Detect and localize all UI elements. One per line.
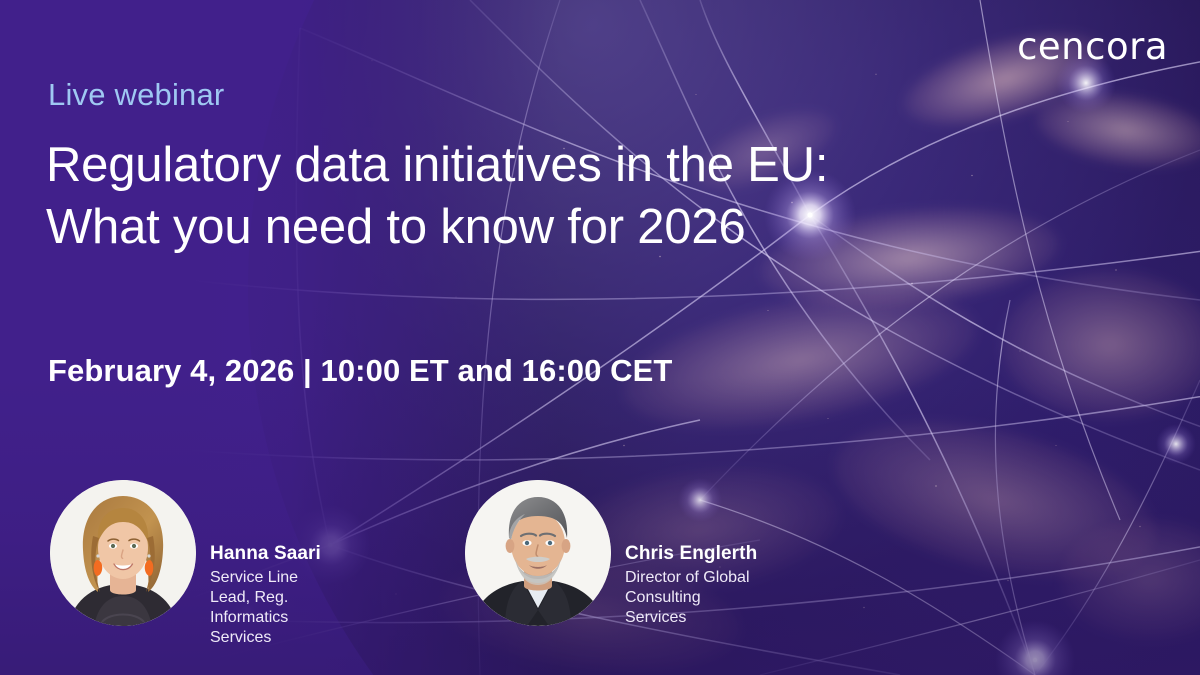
- webinar-promo-banner: cencora Live webinar Regulatory data ini…: [0, 0, 1200, 675]
- speaker-card: Hanna Saari Service Line Lead, Reg. Info…: [50, 480, 321, 648]
- eyebrow-live-webinar: Live webinar: [48, 78, 224, 112]
- speaker-card: Chris Englerth Director of Global Consul…: [465, 480, 757, 628]
- speaker-role: Service Line Lead, Reg. Informatics Serv…: [210, 568, 321, 648]
- speaker-name: Chris Englerth: [625, 542, 757, 566]
- speaker-info: Chris Englerth Director of Global Consul…: [625, 480, 757, 628]
- speaker-name: Hanna Saari: [210, 542, 321, 566]
- speaker-role: Director of Global Consulting Services: [625, 568, 757, 628]
- banner-content: cencora Live webinar Regulatory data ini…: [0, 0, 1200, 675]
- avatar-chris-englerth: [465, 480, 611, 626]
- webinar-datetime: February 4, 2026 | 10:00 ET and 16:00 CE…: [48, 352, 672, 389]
- avatar-hanna-saari: [50, 480, 196, 626]
- cencora-logo: cencora: [1017, 28, 1168, 65]
- speaker-info: Hanna Saari Service Line Lead, Reg. Info…: [210, 480, 321, 648]
- page-title: Regulatory data initiatives in the EU: W…: [46, 134, 1006, 258]
